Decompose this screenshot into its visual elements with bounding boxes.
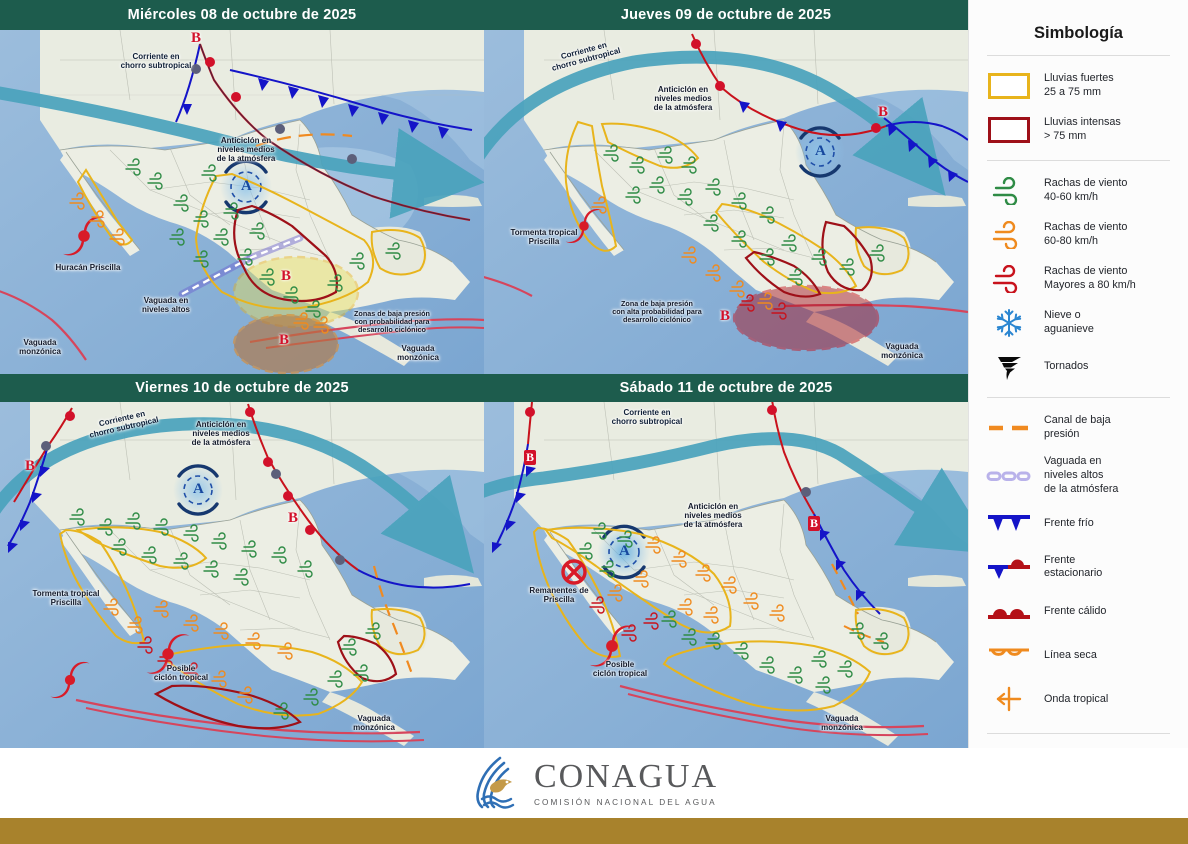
legend-divider bbox=[987, 55, 1170, 56]
legend-item-rachas-60-80[interactable]: Rachas de viento 60-80 km/h bbox=[969, 213, 1188, 257]
low-pressure-marker-b3: B bbox=[279, 332, 289, 349]
panel-title-wednesday: Miércoles 08 de octubre de 2025 bbox=[0, 0, 484, 30]
legend-label: Nieve o aguanieve bbox=[1044, 309, 1094, 337]
legend-item-lluvias-fuertes[interactable]: Lluvias fuertes 25 a 75 mm bbox=[969, 64, 1188, 108]
map-panel-thursday[interactable]: Jueves 09 de octubre de 2025 Corriente e… bbox=[484, 0, 968, 374]
legend-divider bbox=[987, 160, 1170, 161]
logo-subtitle: COMISIÓN NACIONAL DEL AGUA bbox=[534, 798, 718, 807]
low-pressure-marker-b1: B bbox=[524, 450, 536, 465]
legend-label: Lluvias intensas > 75 mm bbox=[1044, 116, 1121, 144]
legend-label: Onda tropical bbox=[1044, 693, 1108, 707]
high-pressure-marker-a: A bbox=[815, 143, 826, 160]
legend-item-nieve[interactable]: Nieve o aguanieve bbox=[969, 301, 1188, 345]
gold-bottom-bar bbox=[0, 818, 1188, 844]
legend-item-vaguada-niveles-altos[interactable]: Vaguada en niveles altos de la atmósfera bbox=[969, 450, 1188, 501]
low-pressure-marker-b1: B bbox=[25, 458, 35, 475]
logo-text: CONAGUA COMISIÓN NACIONAL DEL AGUA bbox=[534, 760, 718, 807]
legend-item-frente-frio[interactable]: Frente frío bbox=[969, 501, 1188, 545]
legend-group-rain: Lluvias fuertes 25 a 75 mm Lluvias inten… bbox=[969, 62, 1188, 154]
stationary-front-icon bbox=[985, 550, 1033, 584]
low-pressure-marker-b2: B bbox=[720, 308, 730, 325]
legend-label: Frente estacionario bbox=[1044, 554, 1102, 582]
legend-label: Lluvias fuertes 25 a 75 mm bbox=[1044, 72, 1114, 100]
weather-forecast-page: Miércoles 08 de octubre de 2025 Corrient… bbox=[0, 0, 1188, 844]
legend-divider bbox=[987, 733, 1170, 734]
low-pressure-marker-b2: B bbox=[808, 516, 820, 531]
legend-label: Canal de baja presión bbox=[1044, 414, 1111, 442]
map-panel-friday[interactable]: Viernes 10 de octubre de 2025 Corriente … bbox=[0, 374, 484, 748]
legend-item-frente-calido[interactable]: Frente cálido bbox=[969, 589, 1188, 633]
panel-title-saturday: Sábado 11 de octubre de 2025 bbox=[484, 374, 968, 402]
logo-name: CONAGUA bbox=[534, 760, 718, 794]
warm-front-icon bbox=[985, 594, 1033, 628]
wind-gust-orange-icon bbox=[985, 218, 1033, 252]
wind-gust-green-icon bbox=[985, 174, 1033, 208]
legend-panel: Simbología Lluvias fuertes 25 a 75 mm Ll… bbox=[968, 0, 1188, 748]
map-graphic-friday bbox=[0, 374, 484, 748]
legend-item-lluvias-intensas[interactable]: Lluvias intensas > 75 mm bbox=[969, 108, 1188, 152]
low-pressure-channel-icon bbox=[985, 411, 1033, 445]
legend-label: Rachas de viento Mayores a 80 km/h bbox=[1044, 265, 1136, 293]
rain-intense-box-icon bbox=[985, 113, 1033, 147]
low-pressure-marker-b2: B bbox=[281, 268, 291, 285]
wind-gust-red-icon bbox=[985, 262, 1033, 296]
footer: CONAGUA COMISIÓN NACIONAL DEL AGUA bbox=[0, 748, 1188, 818]
low-pressure-marker-b1: B bbox=[191, 30, 201, 47]
legend-title: Simbología bbox=[969, 24, 1188, 43]
legend-label: Vaguada en niveles altos de la atmósfera bbox=[1044, 455, 1118, 496]
rain-strong-box-icon bbox=[985, 69, 1033, 103]
panel-title-friday: Viernes 10 de octubre de 2025 bbox=[0, 374, 484, 402]
legend-group-fronts: Canal de baja presión Vaguada en niveles… bbox=[969, 404, 1188, 723]
legend-item-rachas-40-60[interactable]: Rachas de viento 40-60 km/h bbox=[969, 169, 1188, 213]
legend-label: Frente frío bbox=[1044, 517, 1094, 531]
map-grid: Miércoles 08 de octubre de 2025 Corrient… bbox=[0, 0, 968, 748]
legend-item-rachas-mayores-80[interactable]: Rachas de viento Mayores a 80 km/h bbox=[969, 257, 1188, 301]
tornado-icon bbox=[985, 350, 1033, 384]
low-pressure-marker-b2: B bbox=[288, 510, 298, 527]
legend-item-linea-seca[interactable]: Línea seca bbox=[969, 633, 1188, 677]
conagua-logo: CONAGUA COMISIÓN NACIONAL DEL AGUA bbox=[470, 754, 718, 812]
legend-item-frente-estacionario[interactable]: Frente estacionario bbox=[969, 545, 1188, 589]
high-pressure-marker-a: A bbox=[241, 178, 252, 195]
map-graphic-saturday bbox=[484, 374, 968, 748]
legend-item-tornados[interactable]: Tornados bbox=[969, 345, 1188, 389]
conagua-water-icon bbox=[470, 754, 522, 812]
legend-label: Tornados bbox=[1044, 360, 1088, 374]
cold-front-icon bbox=[985, 506, 1033, 540]
legend-label: Frente cálido bbox=[1044, 605, 1106, 619]
panel-title-thursday: Jueves 09 de octubre de 2025 bbox=[484, 0, 968, 30]
high-pressure-marker-a: A bbox=[619, 543, 630, 560]
low-pressure-marker-b1: B bbox=[878, 104, 888, 121]
dry-line-icon bbox=[985, 638, 1033, 672]
high-pressure-marker-a: A bbox=[193, 481, 204, 498]
map-panel-wednesday[interactable]: Miércoles 08 de octubre de 2025 Corrient… bbox=[0, 0, 484, 374]
legend-divider bbox=[987, 397, 1170, 398]
legend-item-onda-tropical[interactable]: Onda tropical bbox=[969, 677, 1188, 721]
tropical-wave-icon bbox=[985, 682, 1033, 716]
legend-group-wind: Rachas de viento 40-60 km/h Rachas de vi… bbox=[969, 167, 1188, 391]
map-panel-saturday[interactable]: Sábado 11 de octubre de 2025 Corriente e… bbox=[484, 374, 968, 748]
legend-label: Línea seca bbox=[1044, 649, 1097, 663]
legend-label: Rachas de viento 40-60 km/h bbox=[1044, 177, 1127, 205]
legend-label: Rachas de viento 60-80 km/h bbox=[1044, 221, 1127, 249]
snowflake-icon bbox=[985, 306, 1033, 340]
legend-item-canal-baja-presion[interactable]: Canal de baja presión bbox=[969, 406, 1188, 450]
upper-level-trough-icon bbox=[985, 459, 1033, 493]
